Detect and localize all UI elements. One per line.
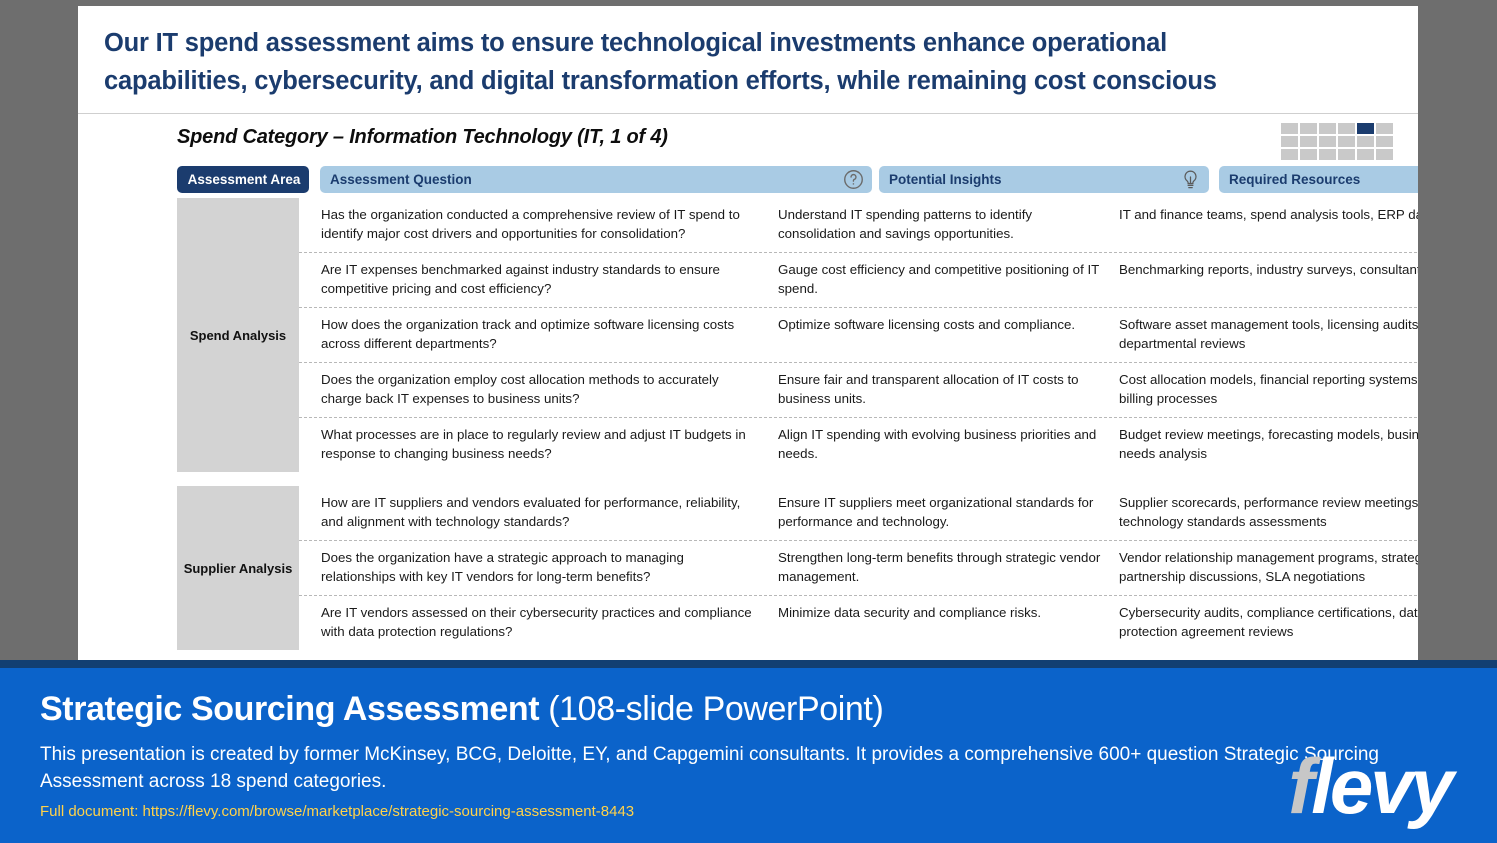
page-grid-cell xyxy=(1338,123,1355,134)
header-assessment-area[interactable]: Assessment Area xyxy=(177,166,309,193)
promo-footer: Strategic Sourcing Assessment (108-slide… xyxy=(0,668,1497,843)
assessment-area-cell: Spend Analysis xyxy=(177,198,299,472)
header-assessment-question[interactable]: Assessment Question xyxy=(320,166,872,193)
table-row: How does the organization track and opti… xyxy=(299,308,1418,363)
cell-assessment-question: How does the organization track and opti… xyxy=(299,315,778,353)
cell-required-resource: IT and finance teams, spend analysis too… xyxy=(1119,205,1418,243)
section-inner: Supplier AnalysisHow are IT suppliers an… xyxy=(177,486,1418,650)
section-inner: Spend AnalysisHas the organization condu… xyxy=(177,198,1418,472)
cell-assessment-question: Are IT expenses benchmarked against indu… xyxy=(299,260,778,298)
header-potential-insights-label: Potential Insights xyxy=(889,172,1002,187)
promo-title-bold: Strategic Sourcing Assessment xyxy=(40,690,539,728)
assessment-section: Supplier AnalysisHow are IT suppliers an… xyxy=(177,486,1418,650)
cell-assessment-question: What processes are in place to regularly… xyxy=(299,425,778,463)
slide-subtitle: Spend Category – Information Technology … xyxy=(177,126,668,149)
page-grid-cell xyxy=(1281,149,1298,160)
page-grid-cell xyxy=(1376,149,1393,160)
slide-title: Our IT spend assessment aims to ensure t… xyxy=(78,6,1418,114)
cell-assessment-question: Has the organization conducted a compreh… xyxy=(299,205,778,243)
section-rows: Has the organization conducted a compreh… xyxy=(299,198,1418,472)
page-grid-cell xyxy=(1319,149,1336,160)
page-grid-cell xyxy=(1319,123,1336,134)
page-grid-cell xyxy=(1300,123,1317,134)
title-line-2: capabilities, cybersecurity, and digital… xyxy=(104,62,1392,100)
table-row: Does the organization employ cost alloca… xyxy=(299,363,1418,418)
page-grid-cell xyxy=(1338,149,1355,160)
cell-potential-insight: Ensure IT suppliers meet organizational … xyxy=(778,493,1119,531)
page-grid-cell xyxy=(1281,136,1298,147)
cell-potential-insight: Align IT spending with evolving business… xyxy=(778,425,1119,463)
cell-required-resource: Benchmarking reports, industry surveys, … xyxy=(1119,260,1418,298)
page-grid-cell xyxy=(1376,123,1393,134)
table-row: Has the organization conducted a compreh… xyxy=(299,198,1418,253)
cell-required-resource: Software asset management tools, licensi… xyxy=(1119,315,1418,353)
header-assessment-question-label: Assessment Question xyxy=(330,172,472,187)
assessment-section: Spend AnalysisHas the organization condu… xyxy=(177,198,1418,472)
header-potential-insights[interactable]: Potential Insights xyxy=(879,166,1209,193)
cell-required-resource: Cybersecurity audits, compliance certifi… xyxy=(1119,603,1418,641)
page-grid-cell xyxy=(1300,149,1317,160)
screenshot-root: Our IT spend assessment aims to ensure t… xyxy=(0,0,1497,843)
cell-assessment-question: Are IT vendors assessed on their cyberse… xyxy=(299,603,778,641)
cell-required-resource: Supplier scorecards, performance review … xyxy=(1119,493,1418,531)
page-grid-cell xyxy=(1300,136,1317,147)
page-progress-grid xyxy=(1281,123,1393,160)
page-grid-cell xyxy=(1281,123,1298,134)
flevy-logo: flevy xyxy=(1288,747,1451,825)
flevy-logo-levy: levy xyxy=(1311,742,1451,830)
title-line-1: Our IT spend assessment aims to ensure t… xyxy=(104,24,1392,62)
cell-potential-insight: Understand IT spending patterns to ident… xyxy=(778,205,1119,243)
cell-potential-insight: Minimize data security and compliance ri… xyxy=(778,603,1119,641)
page-grid-cell xyxy=(1357,123,1374,134)
page-grid-cell xyxy=(1338,136,1355,147)
table-row: Does the organization have a strategic a… xyxy=(299,541,1418,596)
cell-potential-insight: Gauge cost efficiency and competitive po… xyxy=(778,260,1119,298)
header-required-resources[interactable]: Required Resources xyxy=(1219,166,1418,193)
flevy-logo-f: f xyxy=(1288,742,1311,830)
promo-link[interactable]: Full document: https://flevy.com/browse/… xyxy=(40,803,1457,820)
table-header-row: Assessment Area Assessment Question xyxy=(177,166,1418,193)
question-mark-circle-icon xyxy=(843,169,864,190)
header-assessment-area-label: Assessment Area xyxy=(188,172,301,187)
page-grid-cell xyxy=(1376,136,1393,147)
cell-assessment-question: How are IT suppliers and vendors evaluat… xyxy=(299,493,778,531)
promo-description: This presentation is created by former M… xyxy=(40,741,1457,795)
cell-potential-insight: Strengthen long-term benefits through st… xyxy=(778,548,1119,586)
footer-divider xyxy=(0,660,1497,668)
cell-potential-insight: Optimize software licensing costs and co… xyxy=(778,315,1119,353)
assessment-area-cell: Supplier Analysis xyxy=(177,486,299,650)
assessment-table: Spend AnalysisHas the organization condu… xyxy=(177,198,1418,664)
page-grid-cell xyxy=(1357,149,1374,160)
promo-title: Strategic Sourcing Assessment (108-slide… xyxy=(40,690,1457,729)
slide-canvas: Our IT spend assessment aims to ensure t… xyxy=(78,6,1418,666)
cell-potential-insight: Ensure fair and transparent allocation o… xyxy=(778,370,1119,408)
table-row: How are IT suppliers and vendors evaluat… xyxy=(299,486,1418,541)
promo-title-light: (108-slide PowerPoint) xyxy=(539,690,883,728)
table-row: What processes are in place to regularly… xyxy=(299,418,1418,472)
cell-required-resource: Vendor relationship management programs,… xyxy=(1119,548,1418,586)
section-rows: How are IT suppliers and vendors evaluat… xyxy=(299,486,1418,650)
table-row: Are IT vendors assessed on their cyberse… xyxy=(299,596,1418,650)
cell-required-resource: Budget review meetings, forecasting mode… xyxy=(1119,425,1418,463)
page-grid-cell xyxy=(1357,136,1374,147)
lightbulb-icon xyxy=(1180,169,1201,191)
page-grid-cell xyxy=(1319,136,1336,147)
cell-assessment-question: Does the organization employ cost alloca… xyxy=(299,370,778,408)
table-row: Are IT expenses benchmarked against indu… xyxy=(299,253,1418,308)
cell-required-resource: Cost allocation models, financial report… xyxy=(1119,370,1418,408)
cell-assessment-question: Does the organization have a strategic a… xyxy=(299,548,778,586)
header-required-resources-label: Required Resources xyxy=(1229,172,1360,187)
